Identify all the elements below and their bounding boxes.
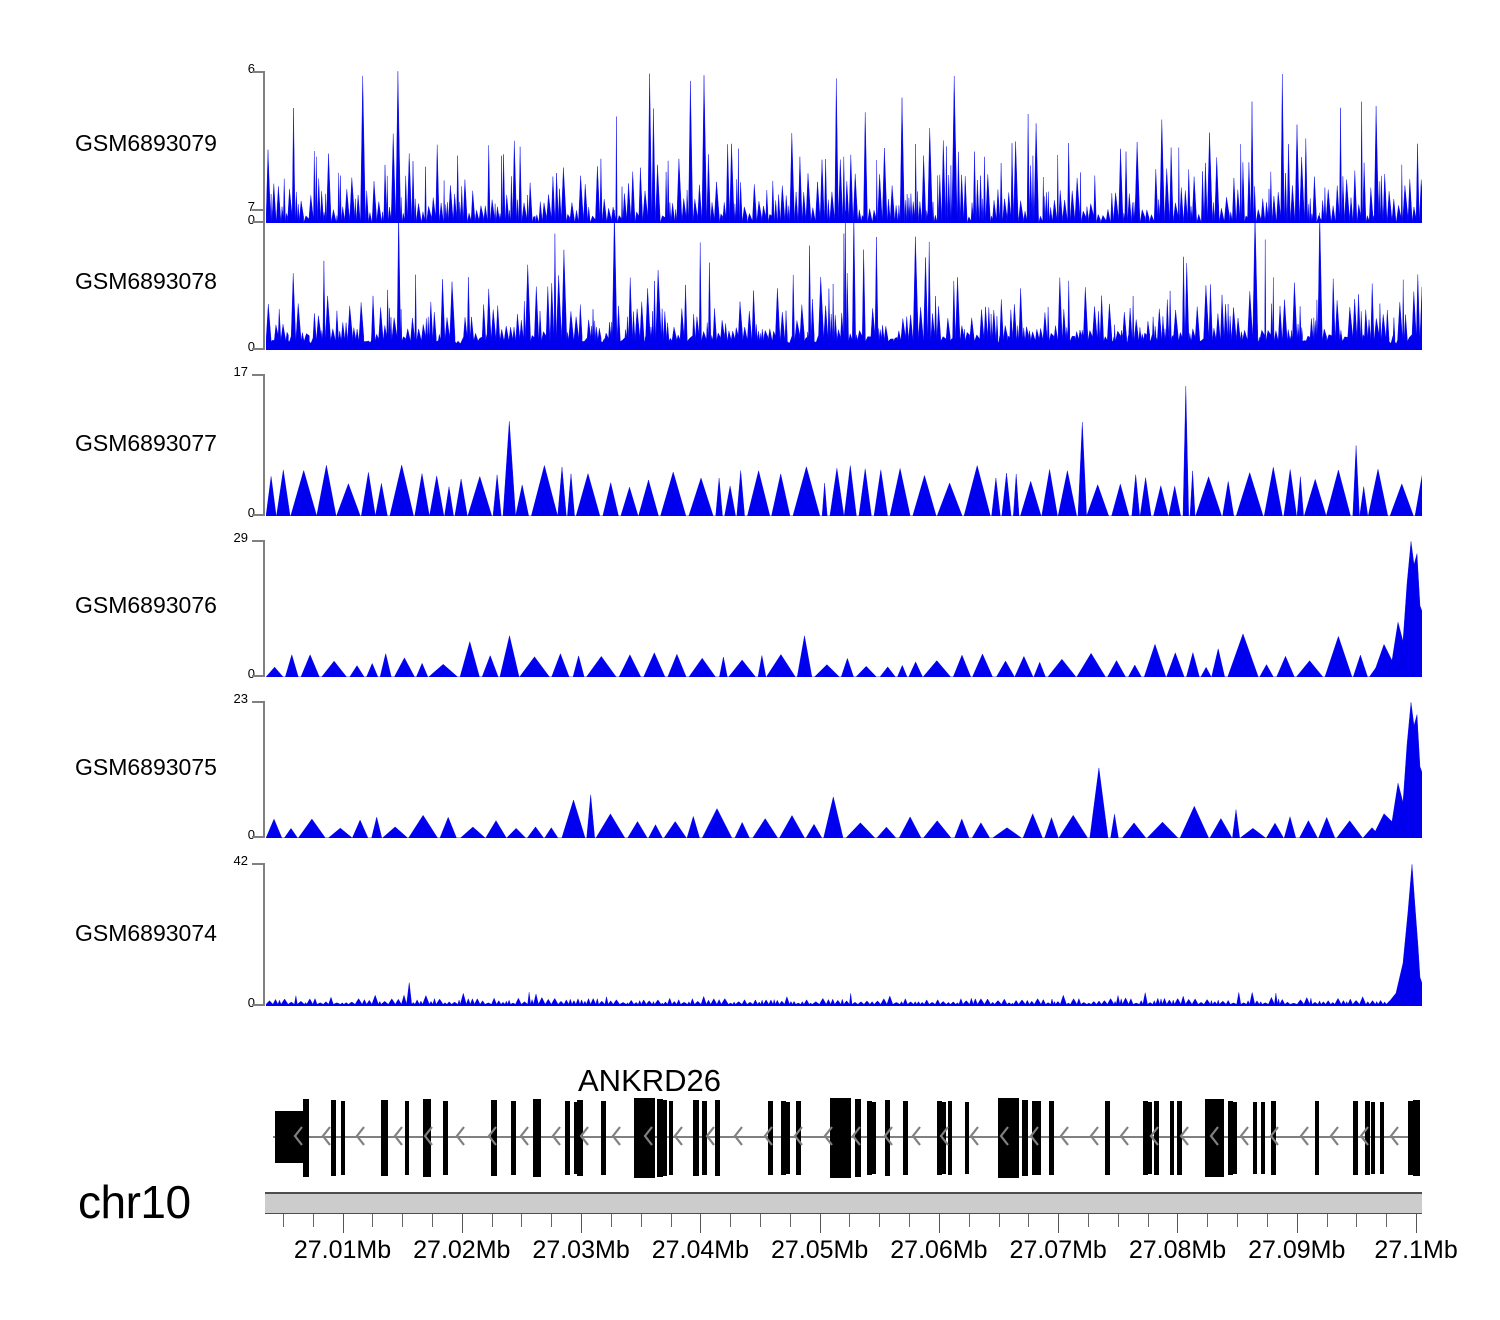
axis-line-vertical <box>263 540 265 677</box>
axis-line-vertical <box>263 701 265 838</box>
coverage-svg <box>266 374 1422 516</box>
gene-exon <box>1271 1101 1276 1175</box>
axis-min-label: 0 <box>215 666 255 681</box>
ruler-tick-label: 27.05Mb <box>771 1236 868 1265</box>
gene-exon <box>830 1098 851 1178</box>
axis-tick-bottom <box>252 836 265 838</box>
ruler-tick-minor <box>730 1214 731 1227</box>
gene-exon <box>1365 1101 1370 1175</box>
gene-exon <box>768 1101 773 1175</box>
ruler-tick-major <box>820 1214 821 1233</box>
ruler-tick-minor <box>492 1214 493 1227</box>
ruler-tick-major <box>1297 1214 1298 1233</box>
gene-exon <box>1413 1100 1420 1176</box>
axis-max-label: 7 <box>215 199 255 214</box>
coverage-plot <box>266 863 1422 1006</box>
ruler-tick-major <box>462 1214 463 1233</box>
gene-exon <box>275 1111 303 1163</box>
ruler-tick-minor <box>1386 1214 1387 1227</box>
ruler-tick-minor <box>969 1214 970 1227</box>
ruler-tick-label: 27.07Mb <box>1010 1236 1107 1265</box>
track-label: GSM6893075 <box>75 754 217 781</box>
gene-exon <box>965 1102 969 1174</box>
ruler-tick-minor <box>1118 1214 1119 1227</box>
gene-exon <box>405 1101 409 1175</box>
ruler-tick-major <box>1058 1214 1059 1233</box>
gene-exon <box>942 1102 946 1174</box>
gene-exon <box>669 1101 673 1175</box>
ruler-tick-label: 27.09Mb <box>1248 1236 1345 1265</box>
gene-exon <box>693 1100 699 1176</box>
axis-max-label: 23 <box>208 691 248 706</box>
gene-exon <box>565 1101 570 1175</box>
ruler-tick-minor <box>432 1214 433 1227</box>
coverage-track: GSM6893074 42 0 <box>0 850 1500 1015</box>
ruler-tick-minor <box>1148 1214 1149 1227</box>
axis-max-label: 29 <box>208 530 248 545</box>
axis-min-label: 0 <box>215 339 255 354</box>
ruler-tick-minor <box>641 1214 642 1227</box>
track-label: GSM6893079 <box>75 130 217 157</box>
gene-exon <box>998 1098 1019 1178</box>
gene-exon <box>715 1100 720 1176</box>
gene-exon <box>1148 1102 1152 1174</box>
coverage-track: GSM6893078 7 0 <box>0 198 1500 358</box>
ruler-tick-minor <box>999 1214 1000 1227</box>
ruler-tick-minor <box>879 1214 880 1227</box>
coverage-plot <box>266 209 1422 350</box>
gene-exon <box>1353 1101 1358 1175</box>
gene-exon <box>491 1100 497 1176</box>
ruler-ticks <box>265 1214 1425 1234</box>
chromosome-label: chr10 <box>78 1175 191 1229</box>
ruler-tick-minor <box>1028 1214 1029 1227</box>
ruler-tick-label: 27.02Mb <box>413 1236 510 1265</box>
axis-tick-top <box>252 374 265 376</box>
axis-tick-top <box>252 863 265 865</box>
ruler-tick-label: 27.03Mb <box>532 1236 629 1265</box>
gene-exon <box>1315 1101 1319 1175</box>
gene-exon <box>1205 1099 1224 1177</box>
ruler-tick-minor <box>551 1214 552 1227</box>
ruler-tick-major <box>1177 1214 1178 1233</box>
axis-min-label: 0 <box>215 505 255 520</box>
gene-annotation-track[interactable]: ANKRD26 <box>0 1055 1500 1200</box>
axis-min-label: 0 <box>215 827 255 842</box>
gene-exon <box>634 1098 655 1178</box>
ruler-tick-label: 27.06Mb <box>890 1236 987 1265</box>
gene-exon <box>1177 1101 1182 1175</box>
gene-exon <box>601 1101 606 1175</box>
ruler-tick-label: 27.04Mb <box>652 1236 749 1265</box>
ruler-tick-minor <box>1267 1214 1268 1227</box>
gene-exon <box>1253 1102 1257 1174</box>
genome-browser-view: GSM6893079 6 0 GSM6893078 7 0 GSM6893077… <box>0 0 1500 1320</box>
gene-exon <box>577 1100 583 1176</box>
gene-exon <box>1261 1102 1265 1174</box>
gene-exon <box>1154 1101 1159 1175</box>
axis-tick-top <box>252 540 265 542</box>
gene-exon <box>443 1101 448 1175</box>
gene-exon <box>1371 1102 1375 1174</box>
coverage-svg <box>266 209 1422 350</box>
gene-exon <box>381 1100 388 1176</box>
ruler-tick-minor <box>283 1214 284 1227</box>
gene-label: ANKRD26 <box>578 1063 721 1099</box>
ruler-tick-minor <box>1327 1214 1328 1227</box>
ruler-tick-minor <box>313 1214 314 1227</box>
ruler-tick-label: 27.01Mb <box>294 1236 391 1265</box>
gene-exon <box>1380 1102 1384 1174</box>
ruler-tick-minor <box>611 1214 612 1227</box>
genome-ruler-bar[interactable] <box>265 1192 1422 1214</box>
coverage-svg <box>266 701 1422 838</box>
ruler-tick-minor <box>372 1214 373 1227</box>
gene-exon <box>341 1101 345 1175</box>
gene-exon <box>423 1099 431 1177</box>
ruler-tick-major <box>939 1214 940 1233</box>
ruler-tick-minor <box>521 1214 522 1227</box>
ruler-tick-major <box>1416 1214 1417 1233</box>
axis-tick-bottom <box>252 514 265 516</box>
coverage-track: GSM6893076 29 0 <box>0 528 1500 686</box>
axis-line-vertical <box>263 374 265 516</box>
axis-tick-top <box>252 71 265 73</box>
ruler-tick-minor <box>1237 1214 1238 1227</box>
gene-exon <box>1105 1101 1110 1175</box>
gene-exon <box>702 1101 707 1175</box>
axis-tick-bottom <box>252 675 265 677</box>
gene-exon <box>1037 1101 1041 1175</box>
axis-tick-bottom <box>252 1004 265 1006</box>
ruler-tick-label: 27.1Mb <box>1374 1236 1457 1265</box>
axis-tick-bottom <box>252 348 265 350</box>
gene-exon <box>533 1099 541 1177</box>
coverage-track: GSM6893079 6 0 <box>0 30 1500 200</box>
axis-min-label: 0 <box>215 995 255 1010</box>
coverage-plot <box>266 540 1422 677</box>
axis-line-vertical <box>263 209 265 350</box>
axis-max-label: 42 <box>208 853 248 868</box>
gene-exon <box>1049 1101 1054 1175</box>
axis-max-label: 17 <box>208 364 248 379</box>
ruler-tick-major <box>343 1214 344 1233</box>
gene-exon <box>1022 1100 1028 1176</box>
coverage-plot <box>266 374 1422 516</box>
ruler-tick-minor <box>849 1214 850 1227</box>
gene-exon <box>303 1099 309 1177</box>
coverage-track: GSM6893077 17 0 <box>0 362 1500 524</box>
track-label: GSM6893074 <box>75 920 217 947</box>
axis-line-vertical <box>263 863 265 1006</box>
gene-exon <box>511 1101 516 1175</box>
gene-exon <box>855 1099 861 1177</box>
axis-tick-top <box>252 209 265 211</box>
ruler-tick-minor <box>760 1214 761 1227</box>
ruler-tick-minor <box>909 1214 910 1227</box>
ruler-tick-minor <box>790 1214 791 1227</box>
gene-exon <box>948 1101 952 1175</box>
gene-model[interactable] <box>265 1097 1425 1177</box>
ruler-tick-minor <box>1207 1214 1208 1227</box>
ruler-tick-minor <box>1088 1214 1089 1227</box>
ruler-tick-minor <box>1356 1214 1357 1227</box>
gene-exon <box>331 1100 336 1176</box>
gene-exon <box>885 1100 890 1176</box>
axis-tick-top <box>252 701 265 703</box>
gene-exon <box>1233 1102 1237 1174</box>
ruler-tick-label: 27.08Mb <box>1129 1236 1226 1265</box>
gene-exon <box>1170 1101 1174 1175</box>
gene-exon <box>796 1101 801 1175</box>
ruler-tick-major <box>581 1214 582 1233</box>
gene-exon <box>903 1101 908 1175</box>
ruler-tick-minor <box>671 1214 672 1227</box>
gene-exon <box>872 1102 876 1174</box>
ruler-tick-major <box>700 1214 701 1233</box>
track-label: GSM6893076 <box>75 592 217 619</box>
track-label: GSM6893077 <box>75 430 217 457</box>
ruler-tick-minor <box>402 1214 403 1227</box>
track-label: GSM6893078 <box>75 268 217 295</box>
coverage-plot <box>266 701 1422 838</box>
coverage-svg <box>266 540 1422 677</box>
coverage-track: GSM6893075 23 0 <box>0 688 1500 846</box>
gene-exon <box>663 1100 667 1176</box>
axis-max-label: 6 <box>215 61 255 76</box>
gene-exon <box>786 1102 790 1174</box>
coverage-svg <box>266 863 1422 1006</box>
